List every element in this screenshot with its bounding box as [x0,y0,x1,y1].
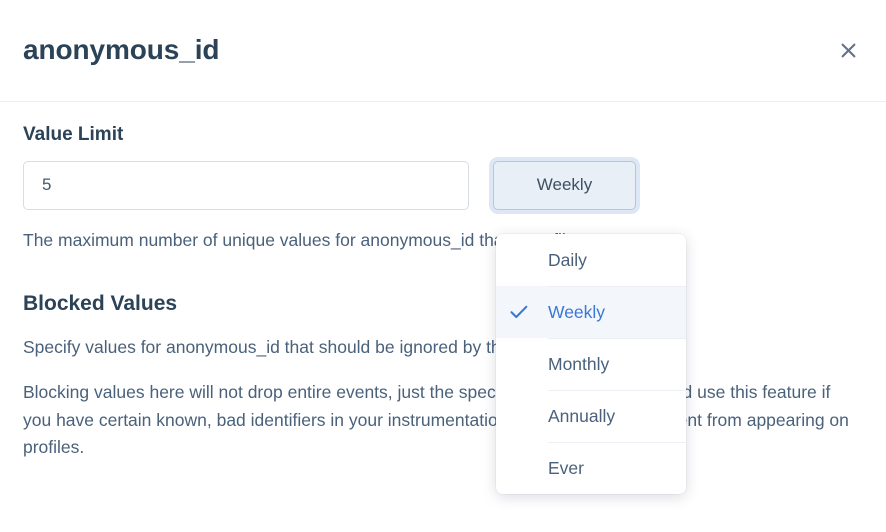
settings-modal: anonymous_id Value Limit Weekly The maxi… [0,0,886,532]
dropdown-option-ever[interactable]: Ever [496,442,686,494]
close-icon [840,42,857,59]
dropdown-option-label: Monthly [548,354,609,375]
check-icon [510,305,548,319]
modal-header: anonymous_id [0,0,886,102]
blocked-values-title: Blocked Values [23,291,863,316]
dropdown-option-label: Daily [548,250,587,271]
blocked-values-description: Specify values for anonymous_id that sho… [23,334,863,361]
value-limit-input[interactable] [23,161,469,210]
page-title: anonymous_id [23,35,219,66]
dropdown-option-monthly[interactable]: Monthly [496,338,686,390]
dropdown-option-annually[interactable]: Annually [496,390,686,442]
blocked-values-note: Blocking values here will not drop entir… [23,379,863,460]
dropdown-option-label: Annually [548,406,615,427]
close-button[interactable] [834,37,862,65]
period-dropdown-menu[interactable]: Daily Weekly Monthly Annually Ever [496,234,686,494]
dropdown-option-label: Ever [548,458,584,479]
modal-body: Value Limit Weekly The maximum number of… [0,102,886,532]
value-limit-row: Weekly [23,161,863,210]
dropdown-option-daily[interactable]: Daily [496,234,686,286]
value-limit-label: Value Limit [23,124,863,147]
dropdown-option-label: Weekly [548,302,605,323]
dropdown-option-weekly[interactable]: Weekly [496,286,686,338]
value-limit-help-text: The maximum number of unique values for … [23,228,863,253]
period-button-wrap: Weekly [493,161,636,210]
period-dropdown-button[interactable]: Weekly [493,161,636,210]
